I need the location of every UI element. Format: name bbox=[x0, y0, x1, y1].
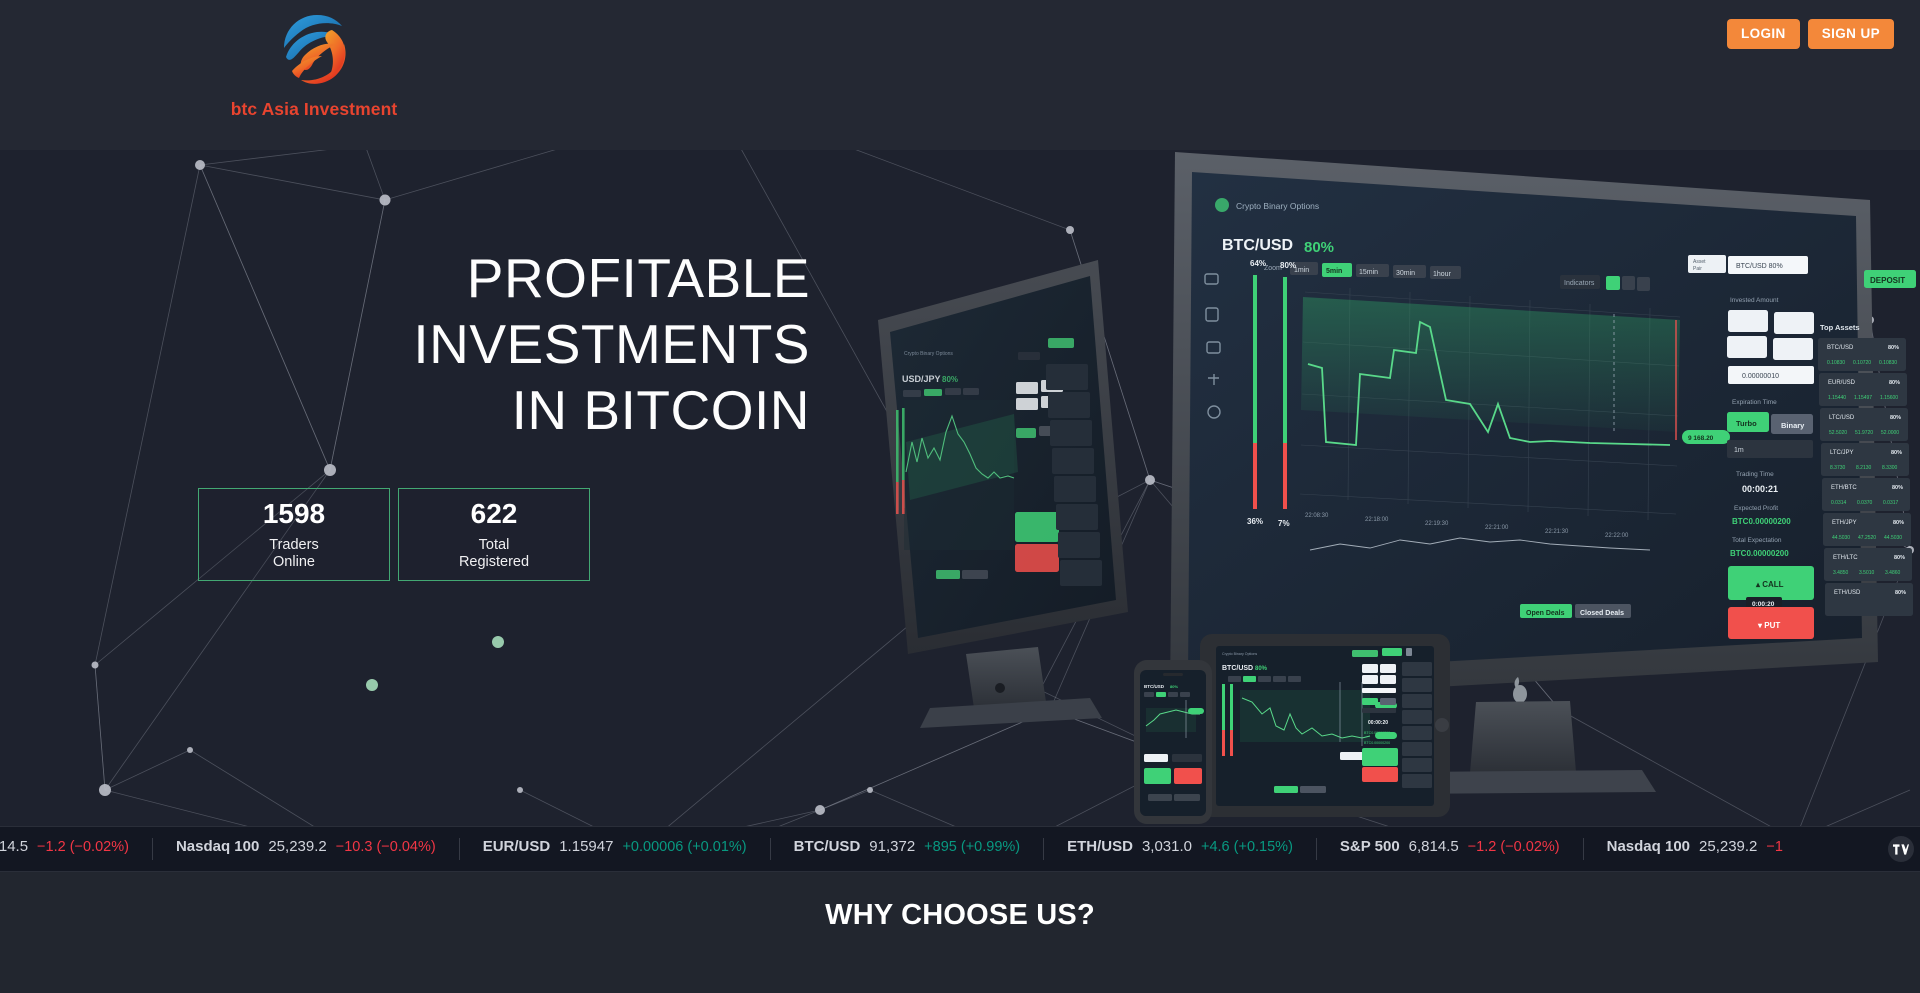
svg-text:44.5030: 44.5030 bbox=[1884, 535, 1902, 541]
market-ticker-bar[interactable]: 6,814.5−1.2 (−0.02%)Nasdaq 10025,239.2−1… bbox=[0, 826, 1920, 872]
svg-text:BTC0.00000200: BTC0.00000200 bbox=[1364, 741, 1390, 745]
stat-label-line-1: Traders bbox=[269, 537, 318, 553]
svg-text:80%: 80% bbox=[1890, 415, 1901, 421]
ticker-item[interactable]: ETH/USD3,031.0+4.6 (+0.15%) bbox=[1044, 838, 1317, 860]
svg-text:BTC0.00000200: BTC0.00000200 bbox=[1364, 731, 1390, 735]
svg-text:Trading Time: Trading Time bbox=[1736, 471, 1774, 478]
svg-text:80%: 80% bbox=[1892, 485, 1903, 491]
svg-text:0.0317: 0.0317 bbox=[1883, 500, 1899, 506]
svg-text:ETH/LTC: ETH/LTC bbox=[1833, 555, 1858, 561]
hero-headline: PROFITABLE INVESTMENTS IN BITCOIN bbox=[0, 245, 810, 443]
ticker-price: 91,372 bbox=[869, 838, 915, 855]
ticker-change: +0.00006 (+0.01%) bbox=[622, 839, 746, 855]
svg-text:0.10830: 0.10830 bbox=[1879, 360, 1897, 366]
tradingview-attribution[interactable] bbox=[1878, 827, 1920, 871]
svg-text:22:22:00: 22:22:00 bbox=[1605, 533, 1629, 539]
ticker-symbol: ETH/USD bbox=[1067, 838, 1133, 855]
brand-name-light: btc Asia bbox=[231, 99, 304, 119]
svg-text:00:00:21: 00:00:21 bbox=[1742, 484, 1778, 494]
stat-label-line-1: Total bbox=[479, 537, 510, 553]
ticker-price: 6,814.5 bbox=[0, 838, 28, 855]
svg-text:Turbo: Turbo bbox=[1736, 419, 1757, 428]
svg-text:BTC/USD 80%: BTC/USD 80% bbox=[1736, 263, 1783, 270]
ticker-change: −1.2 (−0.02%) bbox=[1468, 839, 1560, 855]
signup-button[interactable]: SIGN UP bbox=[1808, 19, 1894, 49]
svg-text:15min: 15min bbox=[1359, 269, 1378, 276]
ticker-item[interactable]: BTC/USD91,372+895 (+0.99%) bbox=[771, 838, 1045, 860]
login-button[interactable]: LOGIN bbox=[1727, 19, 1800, 49]
svg-text:22:08:30: 22:08:30 bbox=[1305, 513, 1329, 519]
svg-text:Invested Amount: Invested Amount bbox=[1730, 297, 1779, 304]
hero-title-line-2: INVESTMENTS bbox=[0, 311, 810, 377]
ticker-symbol: S&P 500 bbox=[1340, 838, 1400, 855]
svg-text:80%: 80% bbox=[1280, 261, 1296, 270]
stat-traders-online: 1598 Traders Online bbox=[198, 488, 390, 581]
svg-text:22:19:30: 22:19:30 bbox=[1425, 521, 1449, 527]
svg-text:Binary: Binary bbox=[1781, 421, 1805, 430]
svg-text:1.15440: 1.15440 bbox=[1828, 395, 1846, 401]
ticker-item[interactable]: Nasdaq 10025,239.2−1 bbox=[1584, 838, 1806, 860]
svg-text:Expected Profit: Expected Profit bbox=[1734, 505, 1778, 512]
svg-text:8.2130: 8.2130 bbox=[1856, 465, 1872, 471]
svg-text:52.5020: 52.5020 bbox=[1829, 430, 1847, 436]
svg-text:BTC/USD: BTC/USD bbox=[1144, 684, 1165, 689]
ticker-symbol: Nasdaq 100 bbox=[176, 838, 259, 855]
svg-text:Crypto Binary Options: Crypto Binary Options bbox=[1236, 201, 1319, 211]
ticker-symbol: Nasdaq 100 bbox=[1607, 838, 1690, 855]
brand-logo[interactable]: btc Asia Investment bbox=[214, 8, 414, 120]
svg-text:1m: 1m bbox=[1734, 447, 1744, 454]
hero-title-line-1: PROFITABLE bbox=[0, 245, 810, 311]
svg-text:ETH/BTC: ETH/BTC bbox=[1831, 485, 1857, 491]
svg-text:5min: 5min bbox=[1326, 268, 1342, 275]
svg-text:36%: 36% bbox=[1247, 517, 1263, 526]
svg-text:8.3730: 8.3730 bbox=[1830, 465, 1846, 471]
left-monitor: Crypto Binary Options USD/JPY 80% bbox=[878, 260, 1128, 728]
svg-text:22:21:00: 22:21:00 bbox=[1485, 525, 1509, 531]
svg-text:3.5010: 3.5010 bbox=[1859, 570, 1875, 576]
svg-text:Indicators: Indicators bbox=[1564, 280, 1595, 287]
svg-text:0:00:20: 0:00:20 bbox=[1752, 601, 1775, 608]
svg-text:80%: 80% bbox=[1304, 239, 1334, 256]
site-header: btc Asia Investment LOGIN SIGN UP bbox=[0, 0, 1920, 150]
ticker-change: +895 (+0.99%) bbox=[924, 839, 1020, 855]
svg-text:ETH/JPY: ETH/JPY bbox=[1832, 520, 1857, 526]
ticker-price: 1.15947 bbox=[559, 838, 613, 855]
svg-text:80%: 80% bbox=[1889, 380, 1900, 386]
svg-text:Total Expectation: Total Expectation bbox=[1732, 537, 1782, 544]
brand-name-bold: Investment bbox=[304, 99, 397, 119]
svg-text:Open Deals: Open Deals bbox=[1526, 610, 1565, 617]
svg-text:44.5030: 44.5030 bbox=[1832, 535, 1850, 541]
svg-text:LTC/JPY: LTC/JPY bbox=[1830, 450, 1854, 456]
svg-text:LTC/USD: LTC/USD bbox=[1829, 415, 1855, 421]
svg-text:DEPOSIT: DEPOSIT bbox=[1870, 276, 1905, 285]
svg-text:22:21:30: 22:21:30 bbox=[1545, 529, 1569, 535]
svg-text:BTC/USD: BTC/USD bbox=[1222, 665, 1253, 672]
svg-text:80%: 80% bbox=[1891, 450, 1902, 456]
svg-text:0.10830: 0.10830 bbox=[1827, 360, 1845, 366]
why-choose-us-section: WHY CHOOSE US? bbox=[0, 872, 1920, 993]
svg-text:80%: 80% bbox=[1893, 520, 1904, 526]
svg-text:9 168.20: 9 168.20 bbox=[1688, 435, 1714, 442]
svg-text:0.00000010: 0.00000010 bbox=[1742, 373, 1779, 380]
svg-text:Crypto Binary Options: Crypto Binary Options bbox=[1222, 652, 1257, 656]
svg-text:64%: 64% bbox=[1250, 259, 1266, 268]
tradingview-logo-icon bbox=[1888, 836, 1914, 862]
svg-text:0.0314: 0.0314 bbox=[1831, 500, 1847, 506]
svg-text:8.3300: 8.3300 bbox=[1882, 465, 1898, 471]
svg-text:3.4860: 3.4860 bbox=[1885, 570, 1901, 576]
svg-text:BTC0.00000200: BTC0.00000200 bbox=[1732, 517, 1791, 526]
ticker-price: 25,239.2 bbox=[1699, 838, 1757, 855]
svg-text:Closed Deals: Closed Deals bbox=[1580, 610, 1624, 617]
svg-text:52.0000: 52.0000 bbox=[1881, 430, 1899, 436]
stat-value: 1598 bbox=[263, 498, 325, 530]
stat-label: Total Registered bbox=[459, 537, 529, 571]
ticker-item[interactable]: EUR/USD1.15947+0.00006 (+0.01%) bbox=[460, 838, 771, 860]
svg-text:Expiration Time: Expiration Time bbox=[1732, 399, 1777, 406]
svg-text:1min: 1min bbox=[1294, 267, 1309, 274]
ticker-item[interactable]: S&P 5006,814.5−1.2 (−0.02%) bbox=[1317, 838, 1584, 860]
trading-platform-devices-photo: Crypto Binary Options USD/JPY 80% bbox=[870, 150, 1920, 830]
svg-text:EUR/USD: EUR/USD bbox=[1828, 380, 1856, 386]
stat-label: Traders Online bbox=[269, 537, 318, 571]
svg-text:80%: 80% bbox=[1255, 666, 1268, 672]
svg-text:BTC0.00000200: BTC0.00000200 bbox=[1730, 549, 1789, 558]
svg-text:3.4850: 3.4850 bbox=[1833, 570, 1849, 576]
svg-text:0.10720: 0.10720 bbox=[1853, 360, 1871, 366]
svg-text:Crypto Binary Options: Crypto Binary Options bbox=[904, 351, 953, 357]
ticker-change: +4.6 (+0.15%) bbox=[1201, 839, 1293, 855]
svg-text:BTC/USD: BTC/USD bbox=[1222, 237, 1293, 254]
svg-text:ETH/USD: ETH/USD bbox=[1834, 590, 1861, 596]
header-actions: LOGIN SIGN UP bbox=[1727, 19, 1894, 49]
ticker-change: −1.2 (−0.02%) bbox=[37, 839, 129, 855]
svg-text:0.0370: 0.0370 bbox=[1857, 500, 1873, 506]
svg-text:1hour: 1hour bbox=[1433, 271, 1452, 278]
stat-label-line-2: Registered bbox=[459, 554, 529, 570]
svg-text:Pair: Pair bbox=[1693, 266, 1702, 272]
ticker-item[interactable]: Nasdaq 10025,239.2−10.3 (−0.04%) bbox=[153, 838, 460, 860]
hero-title-line-3: IN BITCOIN bbox=[0, 377, 810, 443]
svg-text:00:00:20: 00:00:20 bbox=[1368, 720, 1388, 726]
svg-text:Asset: Asset bbox=[1693, 259, 1706, 265]
svg-text:1.15497: 1.15497 bbox=[1854, 395, 1872, 401]
landing-page: btc Asia Investment LOGIN SIGN UP bbox=[0, 0, 1920, 993]
ticker-price: 6,814.5 bbox=[1409, 838, 1459, 855]
ticker-symbol: EUR/USD bbox=[483, 838, 551, 855]
ticker-change: −1 bbox=[1766, 839, 1783, 855]
stat-value: 622 bbox=[471, 498, 518, 530]
svg-text:80%: 80% bbox=[1170, 684, 1178, 689]
ticker-price: 3,031.0 bbox=[1142, 838, 1192, 855]
globe-swirl-logo-icon bbox=[272, 8, 356, 92]
svg-text:▾ PUT: ▾ PUT bbox=[1757, 621, 1780, 630]
svg-text:80%: 80% bbox=[1888, 345, 1899, 351]
stat-total-registered: 622 Total Registered bbox=[398, 488, 590, 581]
ticker-price: 25,239.2 bbox=[268, 838, 326, 855]
svg-text:80%: 80% bbox=[1895, 590, 1906, 596]
hero-stats: 1598 Traders Online 622 Total Registered bbox=[198, 488, 590, 581]
ticker-item[interactable]: 6,814.5−1.2 (−0.02%) bbox=[0, 838, 153, 860]
svg-text:51.9720: 51.9720 bbox=[1855, 430, 1873, 436]
hero-section: Crypto Binary Options USD/JPY 80% bbox=[0, 150, 1920, 830]
stat-label-line-2: Online bbox=[273, 554, 315, 570]
svg-text:BTC/USD: BTC/USD bbox=[1827, 345, 1854, 351]
phone-device: BTC/USD 80% bbox=[1134, 660, 1212, 824]
ticker-symbol: BTC/USD bbox=[794, 838, 861, 855]
svg-text:Top Assets: Top Assets bbox=[1820, 323, 1860, 332]
svg-text:22:18:00: 22:18:00 bbox=[1365, 517, 1389, 523]
ticker-change: −10.3 (−0.04%) bbox=[336, 839, 436, 855]
svg-text:USD/JPY: USD/JPY bbox=[902, 374, 941, 384]
svg-text:30min: 30min bbox=[1396, 270, 1415, 277]
svg-text:1.15600: 1.15600 bbox=[1880, 395, 1898, 401]
svg-text:80%: 80% bbox=[1894, 555, 1905, 561]
brand-name: btc Asia Investment bbox=[231, 99, 398, 120]
section-title: WHY CHOOSE US? bbox=[0, 899, 1920, 932]
svg-text:7%: 7% bbox=[1278, 519, 1290, 528]
ticker-track: 6,814.5−1.2 (−0.02%)Nasdaq 10025,239.2−1… bbox=[0, 827, 1806, 871]
svg-text:80%: 80% bbox=[942, 375, 958, 384]
tablet-device: Crypto Binary Options BTC/USD 80% bbox=[1200, 634, 1450, 817]
svg-text:47.2520: 47.2520 bbox=[1858, 535, 1876, 541]
svg-text:▴ CALL: ▴ CALL bbox=[1755, 580, 1784, 589]
